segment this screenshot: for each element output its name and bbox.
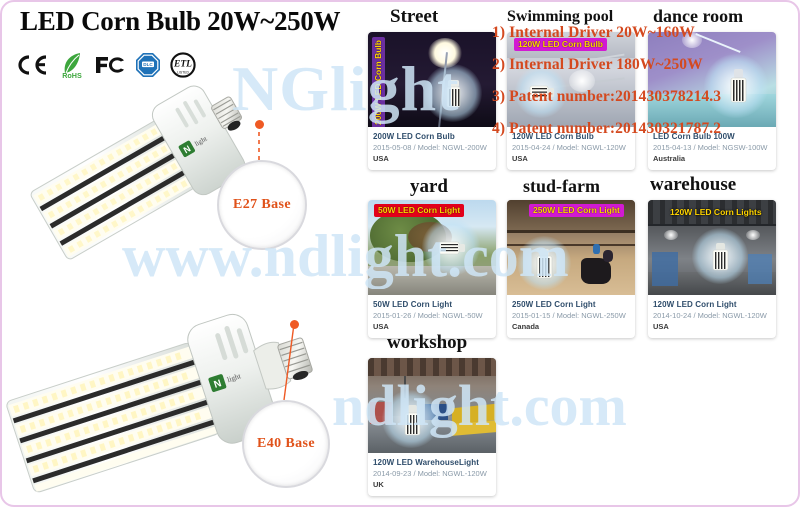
callout-anchor-dot-e27 bbox=[255, 120, 264, 129]
feature-item-2: 2) Internal Driver 180W~250W bbox=[492, 56, 792, 74]
minibulb-warehouse bbox=[710, 242, 732, 279]
product-meta: 2014-10-24 / Model: NGWL-120W bbox=[653, 310, 771, 321]
photo-badge-street: 200W LED Corn Bulb bbox=[372, 37, 385, 127]
minibulb-stud-farm bbox=[533, 248, 557, 289]
category-title-street: Street bbox=[390, 6, 438, 28]
left-panel: LED Corn Bulb 20W~250W RoHS bbox=[2, 2, 362, 507]
category-title-warehouse: warehouse bbox=[650, 174, 736, 196]
product-country: USA bbox=[373, 321, 491, 332]
callout-anchor-dot-e40 bbox=[290, 320, 299, 329]
photo-badge-stud-farm: 250W LED Corn Light bbox=[529, 204, 624, 217]
product-country: USA bbox=[653, 321, 771, 332]
product-name: 120W LED Corn Light bbox=[653, 299, 771, 310]
application-gallery: Street 200W LED Corn Bulb 200W LED Corn … bbox=[360, 2, 800, 507]
minibulb-yard bbox=[438, 238, 466, 263]
product-country: USA bbox=[373, 153, 491, 164]
product-meta: 2014-09-23 / Model: NGWL-120W bbox=[373, 468, 491, 479]
category-title-stud-farm: stud-farm bbox=[523, 176, 600, 197]
gallery-card-warehouse[interactable]: 120W LED Corn Lights 120W LED Corn Light… bbox=[648, 200, 776, 338]
product-name: 200W LED Corn Bulb bbox=[373, 131, 491, 142]
gallery-meta-workshop: 120W LED WarehouseLight 2014-09-23 / Mod… bbox=[368, 453, 496, 496]
minibulb-street bbox=[442, 78, 466, 117]
product-meta: 2015-01-15 / Model: NGWL-250W bbox=[512, 310, 630, 321]
minibulb-workshop bbox=[402, 404, 424, 443]
product-meta: 2015-01-26 / Model: NGWL-50W bbox=[373, 310, 491, 321]
product-country: UK bbox=[373, 479, 491, 490]
callout-e27-label: E27 Base bbox=[233, 197, 291, 213]
gallery-card-yard[interactable]: 50W LED Corn Light 50W LED Corn Light 20… bbox=[368, 200, 496, 338]
photo-badge-warehouse: 120W LED Corn Lights bbox=[666, 206, 766, 219]
category-title-yard: yard bbox=[410, 176, 448, 198]
gallery-photo-workshop bbox=[368, 358, 496, 453]
photo-badge-yard: 50W LED Corn Light bbox=[374, 204, 464, 217]
gallery-card-workshop[interactable]: 120W LED WarehouseLight 2014-09-23 / Mod… bbox=[368, 358, 496, 496]
product-name: 250W LED Corn Light bbox=[512, 299, 630, 310]
product-meta: 2015-05-08 / Model: NGWL-200W bbox=[373, 142, 491, 153]
product-name: 120W LED WarehouseLight bbox=[373, 457, 491, 468]
gallery-meta-stud-farm: 250W LED Corn Light 2015-01-15 / Model: … bbox=[507, 295, 635, 338]
callout-e40-label: E40 Base bbox=[257, 436, 315, 452]
feature-item-3: 3) Patent number:201430378214.3 bbox=[492, 88, 792, 106]
gallery-photo-stud-farm: 250W LED Corn Light bbox=[507, 200, 635, 295]
gallery-photo-warehouse: 120W LED Corn Lights bbox=[648, 200, 776, 295]
feature-item-4: 4) Patent number:201430321787.2 bbox=[492, 120, 792, 138]
gallery-card-street[interactable]: 200W LED Corn Bulb 200W LED Corn Bulb 20… bbox=[368, 32, 496, 170]
gallery-card-stud-farm[interactable]: 250W LED Corn Light 250W LED Corn Light … bbox=[507, 200, 635, 338]
gallery-photo-yard: 50W LED Corn Light bbox=[368, 200, 496, 295]
product-country: Australia bbox=[653, 153, 771, 164]
category-title-workshop: workshop bbox=[387, 332, 467, 354]
gallery-meta-warehouse: 120W LED Corn Light 2014-10-24 / Model: … bbox=[648, 295, 776, 338]
product-country: Canada bbox=[512, 321, 630, 332]
product-name: 50W LED Corn Light bbox=[373, 299, 491, 310]
gallery-photo-street: 200W LED Corn Bulb bbox=[368, 32, 496, 127]
product-banner: NGlight www.ndlight.com ndlight.com LED … bbox=[0, 0, 800, 507]
product-country: USA bbox=[512, 153, 630, 164]
gallery-meta-street: 200W LED Corn Bulb 2015-05-08 / Model: N… bbox=[368, 127, 496, 170]
photo-badge-swimming-pool: 120W LED Corn Bulb bbox=[514, 38, 607, 51]
